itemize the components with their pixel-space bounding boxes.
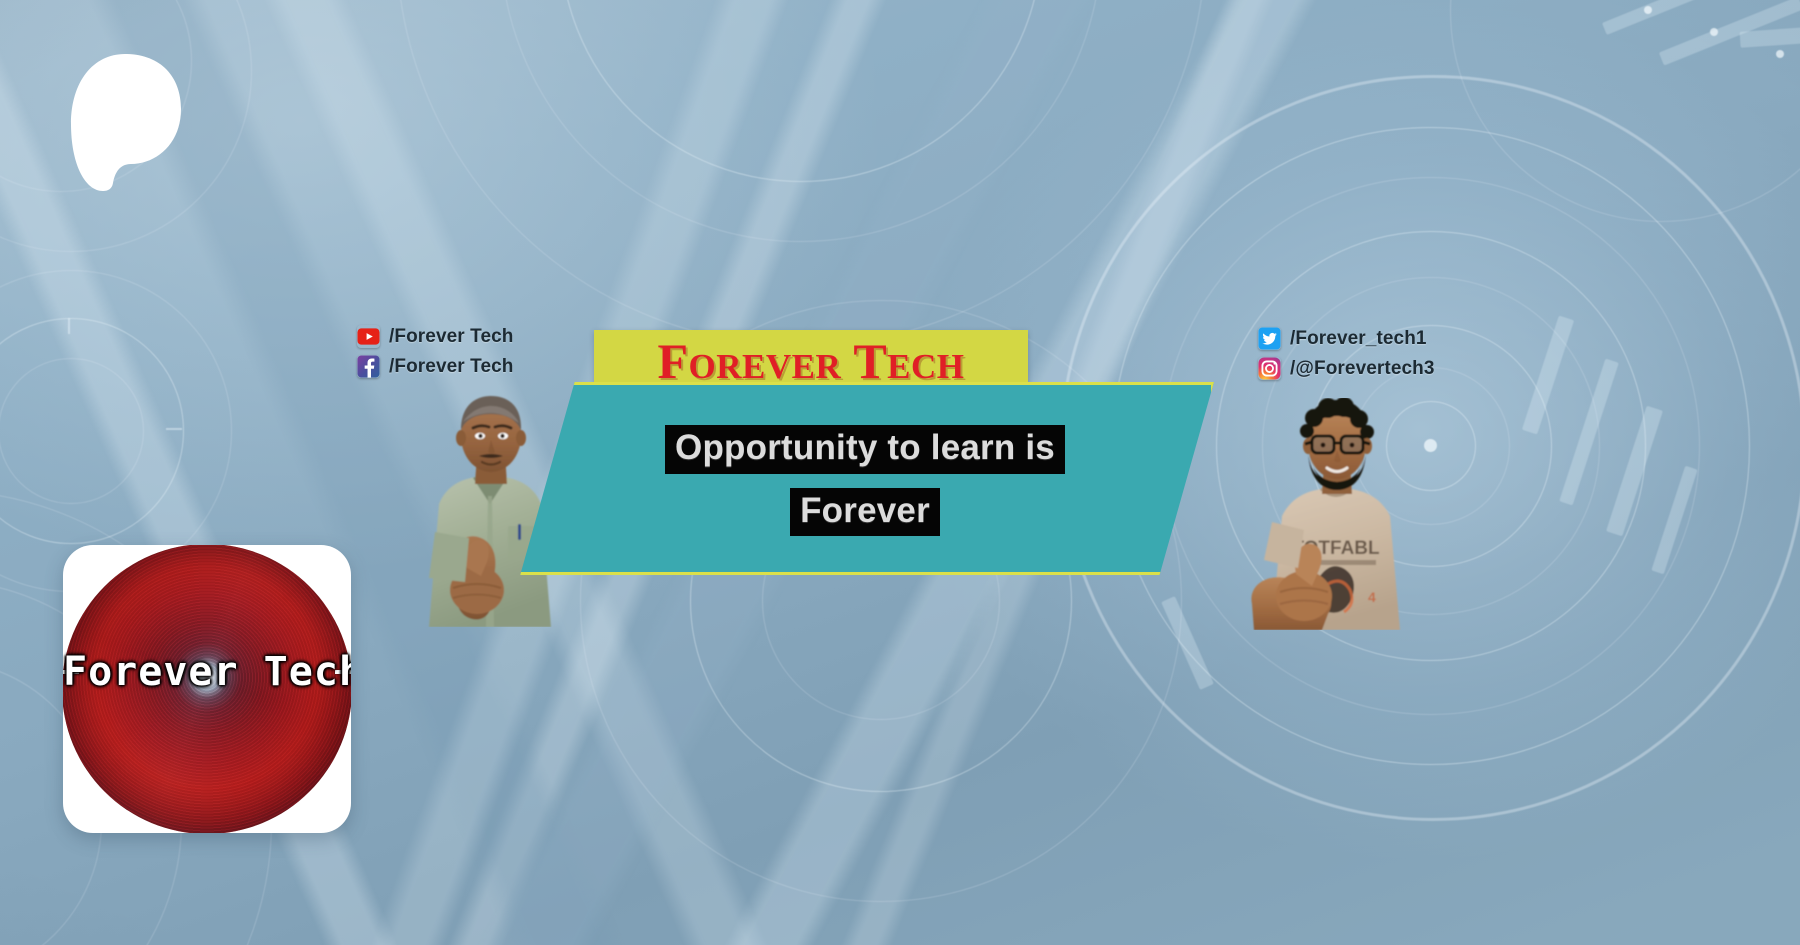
social-row-youtube[interactable]: /Forever Tech — [357, 325, 514, 348]
facebook-icon[interactable] — [357, 355, 380, 378]
page-title: Forever Tech — [657, 336, 964, 386]
patreon-logo-icon — [68, 52, 183, 192]
svg-text:4: 4 — [1368, 589, 1376, 605]
brand-logo-text: Forever Tech — [63, 649, 351, 695]
twitter-icon[interactable] — [1258, 327, 1281, 350]
social-links-left: /Forever Tech /Forever Tech — [357, 325, 514, 385]
youtube-icon[interactable] — [357, 325, 380, 348]
social-handle-facebook: /Forever Tech — [389, 356, 514, 378]
social-handle-twitter: /Forever_tech1 — [1290, 328, 1427, 350]
instagram-icon[interactable] — [1258, 357, 1281, 380]
tagline-line-2: Forever — [790, 488, 940, 537]
social-row-twitter[interactable]: /Forever_tech1 — [1258, 327, 1435, 350]
banner-canvas: /Forever Tech /Forever Tech — [0, 0, 1800, 945]
social-links-right: /Forever_tech1 /@Forevertech3 — [1258, 327, 1435, 387]
center-banner: Forever Tech Opportunity to learn is For… — [594, 330, 1214, 575]
tagline-line-1: Opportunity to learn is — [665, 425, 1065, 474]
social-handle-instagram: /@Forevertech3 — [1290, 358, 1435, 380]
social-handle-youtube: /Forever Tech — [389, 326, 514, 348]
social-row-facebook[interactable]: /Forever Tech — [357, 355, 514, 378]
banner-tagline-panel: Opportunity to learn is Forever — [516, 382, 1214, 575]
host-right-photo: TOTFABL 19 4 — [1242, 398, 1430, 630]
brand-logo-card[interactable]: Forever Tech — [63, 545, 351, 833]
social-row-instagram[interactable]: /@Forevertech3 — [1258, 357, 1435, 380]
